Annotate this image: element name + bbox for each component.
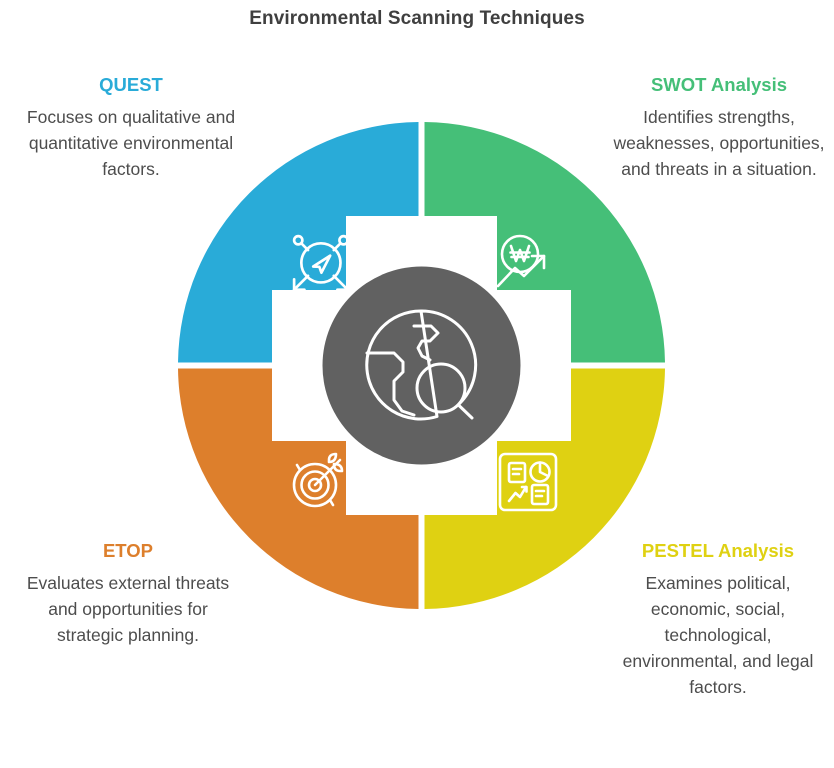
callout-pestel-body: Examines political, economic, social, te… [606, 570, 830, 700]
callout-quest-heading: QUEST [24, 74, 238, 96]
callout-etop-heading: ETOP [14, 540, 242, 562]
environmental-scanning-wheel [178, 122, 665, 609]
callout-etop: ETOP Evaluates external threats and oppo… [14, 540, 242, 648]
callout-pestel-heading: PESTEL Analysis [606, 540, 830, 562]
center-circle[interactable] [323, 267, 521, 465]
callout-etop-body: Evaluates external threats and opportuni… [14, 570, 242, 648]
callout-quest: QUEST Focuses on qualitative and quantit… [24, 74, 238, 182]
callout-swot: SWOT Analysis Identifies strengths, weak… [610, 74, 828, 182]
center-hub[interactable] [323, 267, 521, 465]
callout-quest-body: Focuses on qualitative and quantitative … [24, 104, 238, 182]
callout-swot-body: Identifies strengths, weaknesses, opport… [610, 104, 828, 182]
page-title: Environmental Scanning Techniques [0, 8, 834, 30]
callout-swot-heading: SWOT Analysis [610, 74, 828, 96]
compass-navigation-icon [294, 236, 348, 290]
callout-pestel: PESTEL Analysis Examines political, econ… [606, 540, 830, 701]
